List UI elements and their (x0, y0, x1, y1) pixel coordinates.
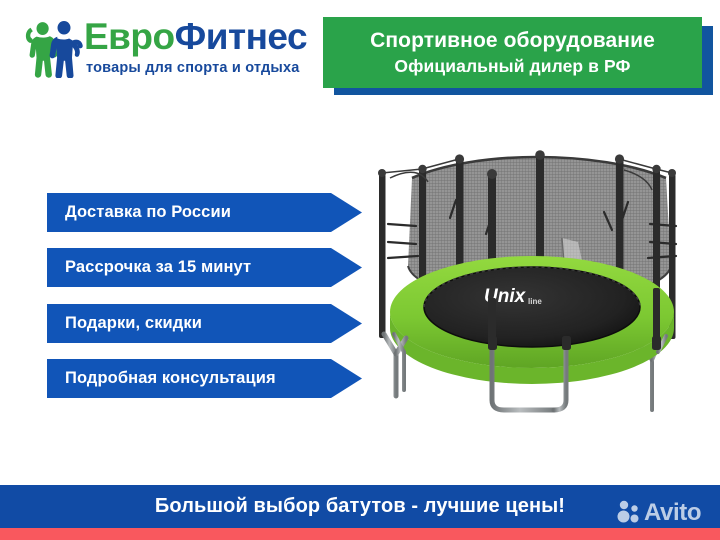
two-athlete-silhouettes-icon (22, 18, 88, 78)
product-image-trampoline: Unix line (366, 138, 710, 470)
brand-logo: ЕвроФитнес товары для спорта и отдыха (22, 14, 322, 86)
footer-banner: Большой выбор батутов - лучшие цены! (0, 485, 720, 528)
feature-label: Доставка по России (47, 203, 231, 222)
footer-accent-stripe (0, 528, 720, 540)
feature-label: Подробная консультация (47, 369, 276, 388)
feature-item-installment: Рассрочка за 15 минут (47, 248, 362, 287)
brand-tagline: товары для спорта и отдыха (86, 60, 336, 76)
feature-item-gifts: Подарки, скидки (47, 304, 362, 343)
headline-primary-text: Спортивное оборудование (370, 27, 655, 54)
product-mat-logo-sub: line (528, 297, 542, 306)
headline-secondary-text: Официальный дилер в РФ (394, 54, 630, 78)
promo-banner-page: ЕвроФитнес товары для спорта и отдыха Сп… (0, 0, 720, 540)
brand-name-fitness: Фитнес (175, 16, 307, 57)
footer-text: Большой выбор батутов - лучшие цены! (155, 495, 565, 518)
headline-banner: Спортивное оборудование Официальный диле… (323, 17, 702, 88)
feature-label: Подарки, скидки (47, 314, 202, 333)
brand-wordmark: ЕвроФитнес (84, 14, 324, 60)
feature-list: Доставка по России Рассрочка за 15 минут… (47, 193, 362, 398)
brand-name-euro: Евро (84, 16, 175, 57)
feature-label: Рассрочка за 15 минут (47, 258, 251, 277)
feature-item-consultation: Подробная консультация (47, 359, 362, 398)
feature-item-delivery: Доставка по России (47, 193, 362, 232)
